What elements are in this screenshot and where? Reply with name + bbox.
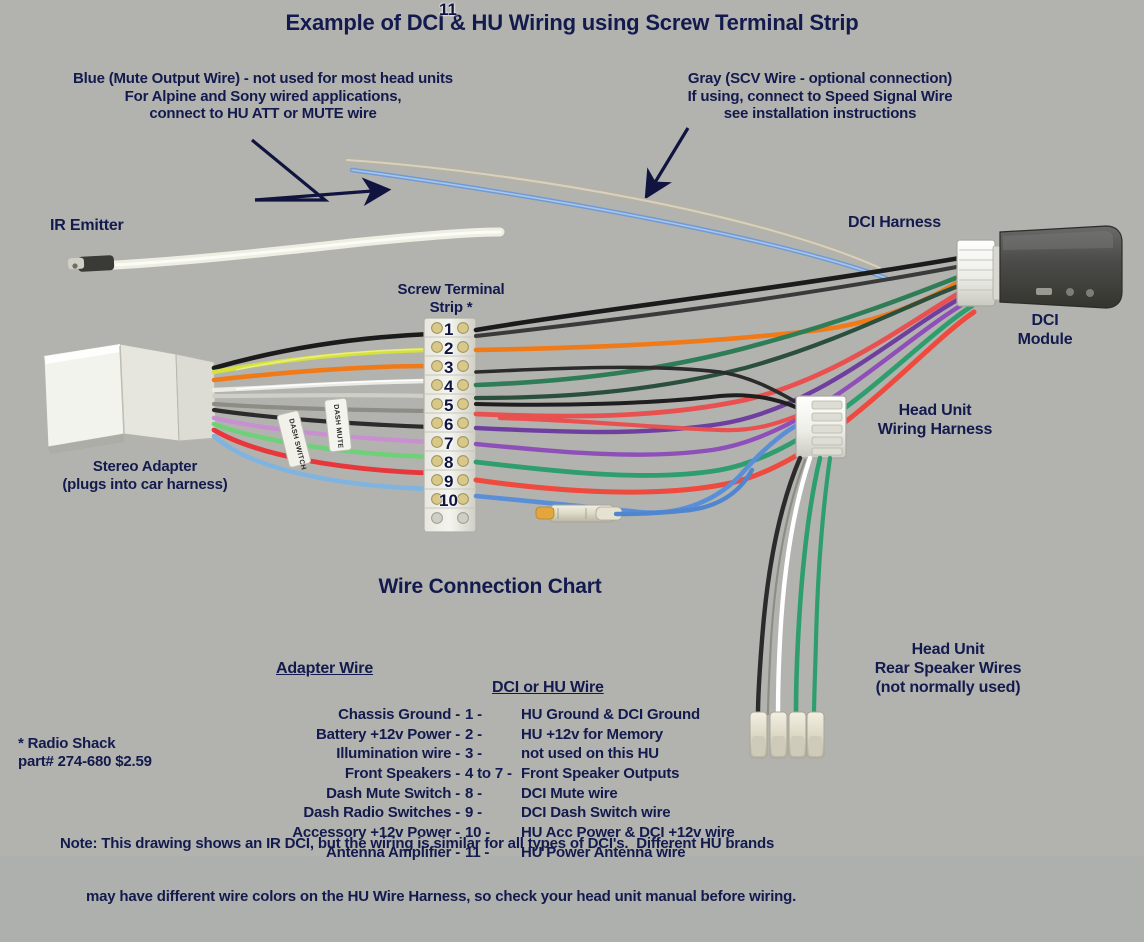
terminal-number-3: 3 xyxy=(444,358,453,378)
chart-cell-terminal-number: 3 - xyxy=(465,744,521,764)
chart-row: Illumination wire -3 -not used on this H… xyxy=(180,744,735,764)
chart-header-dci-or-hu-wire: DCI or HU Wire xyxy=(492,679,604,698)
chart-cell-adapter: Illumination wire - xyxy=(180,744,465,764)
terminal-number-7: 7 xyxy=(444,434,453,454)
terminal-number-5: 5 xyxy=(444,396,453,416)
label-head-unit-rear-speaker-wires: Head Unit Rear Speaker Wires (not normal… xyxy=(838,641,1058,698)
terminal-number-2: 2 xyxy=(444,339,453,359)
terminal-number-4: 4 xyxy=(444,377,453,397)
terminal-number-11: 11 xyxy=(439,0,457,20)
footer-note-line1: Note: This drawing shows an IR DCI, but … xyxy=(60,835,1090,853)
chart-cell-dci-hu: HU Ground & DCI Ground xyxy=(521,705,735,725)
head-unit-wiring-harness-connector xyxy=(796,396,846,458)
label-screw-terminal-strip: Screw Terminal Strip * xyxy=(366,281,536,316)
chart-cell-terminal-number: 1 - xyxy=(465,705,521,725)
chart-cell-dci-hu: Front Speaker Outputs xyxy=(521,764,735,784)
chart-title: Wire Connection Chart xyxy=(180,575,800,600)
label-head-unit-wiring-harness: Head Unit Wiring Harness xyxy=(840,402,1030,440)
chart-cell-adapter: Chassis Ground - xyxy=(180,705,465,725)
terminal-number-10: 10 xyxy=(439,491,458,511)
note-gray-scv-wire: Gray (SCV Wire - optional connection) If… xyxy=(630,70,1010,123)
footer-note-line2: may have different wire colors on the HU… xyxy=(60,888,1090,906)
label-stereo-adapter: Stereo Adapter (plugs into car harness) xyxy=(10,458,280,493)
footer-note: Note: This drawing shows an IR DCI, but … xyxy=(60,800,1090,942)
label-dci-module: DCI Module xyxy=(985,312,1105,350)
chart-cell-terminal-number: 2 - xyxy=(465,725,521,745)
wiring-diagram-image: Example of DCI & HU Wiring using Screw T… xyxy=(0,0,1144,856)
terminal-number-1: 1 xyxy=(444,320,453,340)
chart-row: Front Speakers -4 to 7 -Front Speaker Ou… xyxy=(180,764,735,784)
chart-cell-adapter: Front Speakers - xyxy=(180,764,465,784)
chart-row: Chassis Ground -1 -HU Ground & DCI Groun… xyxy=(180,705,735,725)
chart-cell-dci-hu: not used on this HU xyxy=(521,744,735,764)
chart-row: Battery +12v Power -2 -HU +12v for Memor… xyxy=(180,725,735,745)
note-blue-mute-wire: Blue (Mute Output Wire) - not used for m… xyxy=(18,70,508,123)
chart-header-adapter-wire: Adapter Wire xyxy=(276,660,373,679)
label-ir-emitter: IR Emitter xyxy=(50,217,124,236)
chart-cell-adapter: Battery +12v Power - xyxy=(180,725,465,745)
chart-column-headers: Adapter Wire DCI or HU Wire xyxy=(180,641,800,665)
dci-module xyxy=(1000,226,1122,308)
terminal-number-9: 9 xyxy=(444,472,453,492)
dci-harness-connector xyxy=(957,240,1001,306)
chart-cell-dci-hu: HU +12v for Memory xyxy=(521,725,735,745)
terminal-number-6: 6 xyxy=(444,415,453,435)
terminal-number-8: 8 xyxy=(444,453,453,473)
label-dci-harness: DCI Harness xyxy=(848,214,941,233)
page-title: Example of DCI & HU Wiring using Screw T… xyxy=(0,10,1144,36)
chart-cell-terminal-number: 4 to 7 - xyxy=(465,764,521,784)
